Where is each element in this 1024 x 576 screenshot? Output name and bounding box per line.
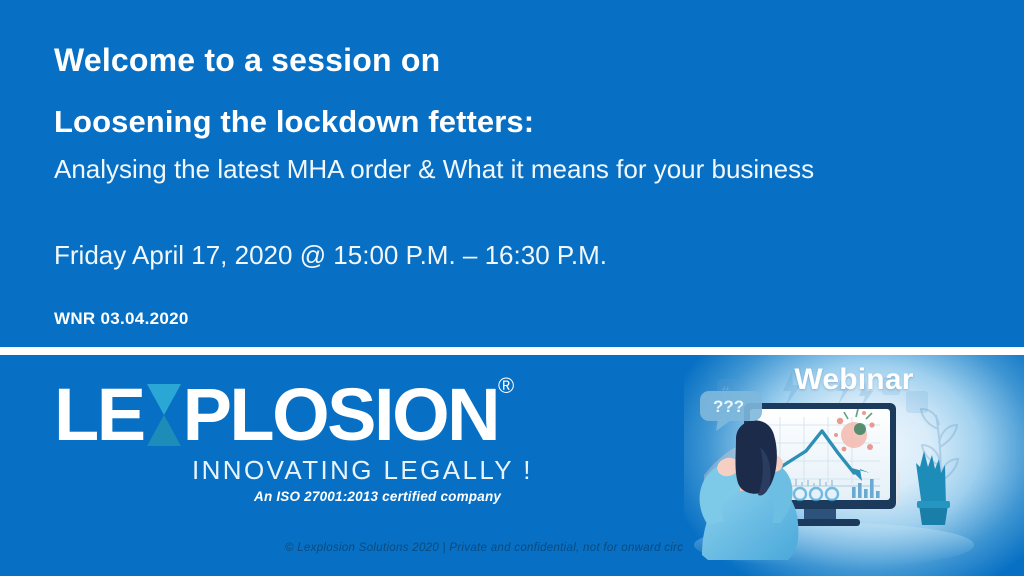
webinar-badge: Webinar [684,363,1024,397]
iso-certification-text: An ISO 27001:2013 certified company [254,489,501,504]
illustration-panel: Webinar [684,355,1024,576]
registered-trademark-icon: ® [498,375,514,397]
logo-tagline: INNOVATING LEGALLY ! [192,455,533,486]
section-divider [0,347,1024,355]
session-title: Loosening the lockdown fetters: [54,104,534,140]
logo-word-right: PLOSION [183,378,499,452]
welcome-line: Welcome to a session on [54,42,440,79]
logo-hourglass-x-icon [147,384,181,446]
webinar-invitation-slide: Welcome to a session on Loosening the lo… [0,0,1024,576]
speech-bubble-text: ??? [713,397,744,416]
reference-code: WNR 03.04.2020 [54,309,189,329]
potted-plant-icon [916,409,958,525]
session-datetime: Friday April 17, 2020 @ 15:00 P.M. – 16:… [54,240,607,271]
footer-section: LE PLOSION ® INNOVATING LEGALLY ! An ISO… [0,355,1024,576]
company-logo: LE PLOSION ® INNOVATING LEGALLY ! An ISO… [54,377,524,537]
logo-wordmark: LE PLOSION [54,377,498,453]
header-section: Welcome to a session on Loosening the lo… [0,0,1024,348]
session-subtitle: Analysing the latest MHA order & What it… [54,154,814,185]
logo-word-left: LE [54,378,144,452]
confidentiality-footer: © Lexplosion Solutions 2020 | Private an… [285,542,719,554]
